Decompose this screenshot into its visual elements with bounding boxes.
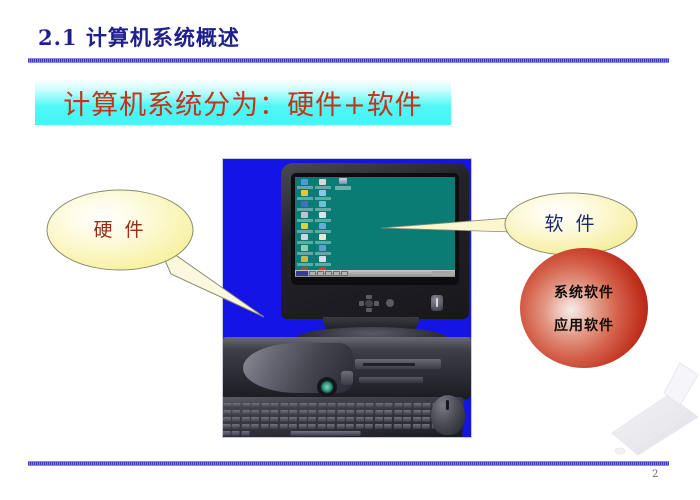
- desktop-icon: [297, 256, 313, 266]
- sphere-line-system-software: 系统软件: [554, 282, 614, 302]
- taskbar: [295, 270, 455, 277]
- desktop-icon: [315, 234, 331, 244]
- keyboard-spacebar: [290, 431, 360, 436]
- monitor-menu-button: [386, 299, 394, 307]
- floppy-drive: [359, 377, 423, 383]
- monitor-power-button: [431, 295, 443, 311]
- start-button: [296, 271, 308, 276]
- keyboard-row: [222, 431, 249, 436]
- software-categories-list: 系统软件 应用软件: [520, 248, 648, 368]
- desktop-icons: [297, 179, 331, 277]
- taskbar-button: [341, 271, 348, 276]
- sphere-line-application-software: 应用软件: [554, 315, 614, 335]
- dpad-up: [366, 295, 372, 299]
- heading-banner-text: 计算机系统分为：硬件+软件: [35, 79, 451, 125]
- dpad-left: [359, 301, 364, 306]
- dpad-center: [365, 300, 373, 307]
- desktop-icon: [297, 212, 313, 222]
- software-categories-sphere[interactable]: 系统软件 应用软件: [520, 248, 648, 368]
- taskbar-button: [333, 271, 340, 276]
- desktop-icon: [315, 223, 331, 233]
- case-button: [341, 371, 353, 385]
- mouse: [431, 395, 465, 435]
- monitor-dpad: [359, 295, 379, 313]
- divider-top: [28, 58, 669, 63]
- computer-case: [223, 337, 471, 399]
- taskbar-button: [309, 271, 316, 276]
- page-number: 2: [652, 469, 658, 480]
- keyboard-row: [222, 410, 440, 415]
- cd-drive: [355, 359, 441, 369]
- case-power-dial: [317, 377, 337, 397]
- divider-bottom: [28, 461, 669, 466]
- keyboard-row: [222, 424, 439, 429]
- laptop-watermark: [560, 355, 700, 460]
- callout-software-label: 软 件: [544, 213, 597, 235]
- desktop-icon: [315, 179, 331, 189]
- system-tray: [432, 271, 454, 276]
- dpad-down: [366, 308, 372, 312]
- desktop-icon: [315, 245, 331, 255]
- desktop-icon: [315, 212, 331, 222]
- desktop-icon: [315, 256, 331, 266]
- desktop-icon: [297, 245, 313, 255]
- dpad-right: [374, 301, 379, 306]
- desktop-icon: [297, 201, 313, 211]
- monitor-controls: [291, 287, 459, 317]
- taskbar-button: [325, 271, 332, 276]
- heading-banner: 计算机系统分为：硬件+软件: [35, 79, 451, 125]
- desktop-icon: [297, 223, 313, 233]
- callout-hardware-label: 硬 件: [93, 219, 146, 241]
- desktop-icon: [297, 190, 313, 200]
- keyboard-row: [222, 403, 440, 408]
- desktop-icon: [315, 201, 331, 211]
- keyboard-row: [222, 417, 440, 422]
- keyboard: [222, 397, 464, 438]
- callout-hardware[interactable]: 硬 件: [45, 186, 270, 321]
- desktop-icon: [315, 190, 331, 200]
- taskbar-button: [317, 271, 324, 276]
- my-computer-icon: [335, 178, 351, 190]
- desktop-icon: [297, 179, 313, 189]
- desktop-icon: [297, 234, 313, 244]
- page-title: 2.1 计算机系统概述: [38, 22, 240, 52]
- slide-canvas: 2.1 计算机系统概述 计算机系统分为：硬件+软件: [0, 0, 700, 500]
